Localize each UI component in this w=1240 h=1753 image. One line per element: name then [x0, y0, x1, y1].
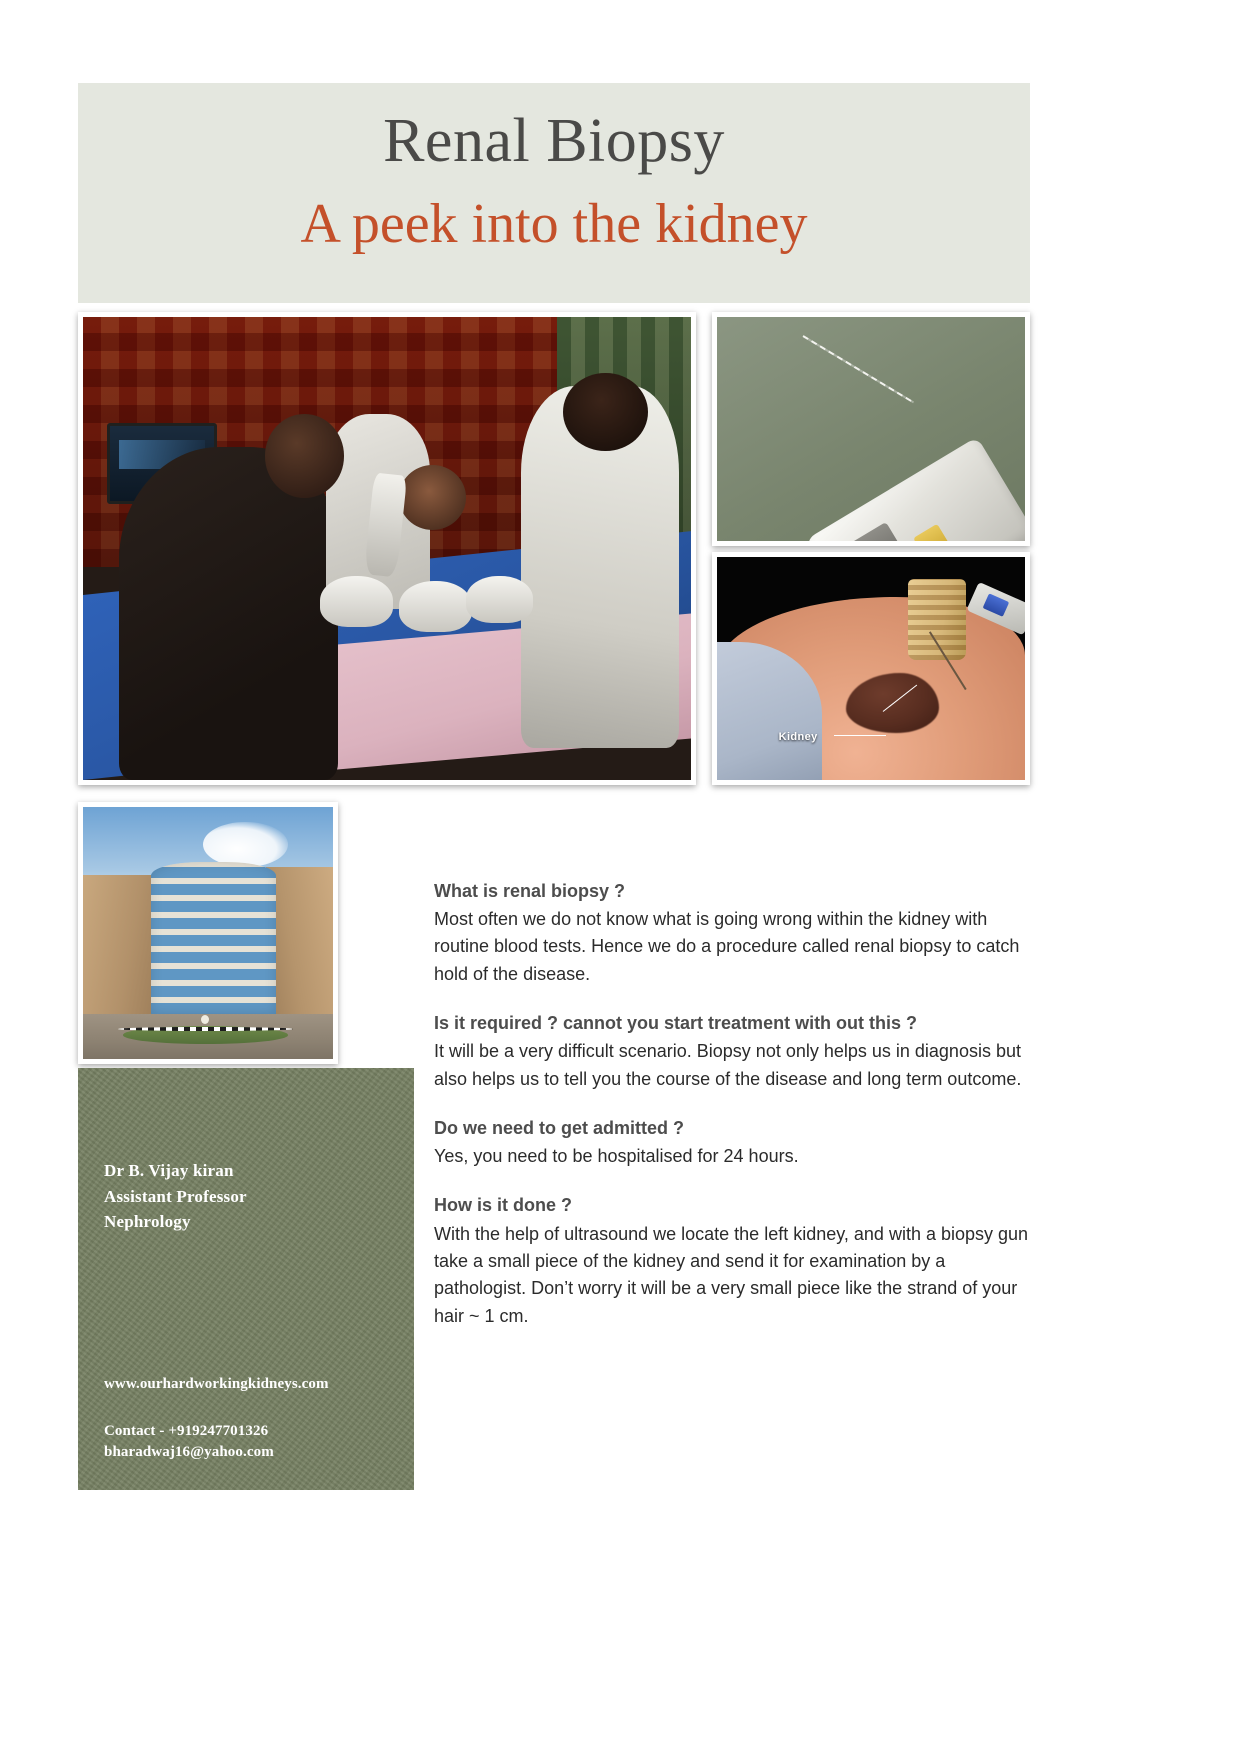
faq-question: Do we need to get admitted ?	[434, 1115, 1040, 1141]
patient-head	[399, 465, 466, 530]
anatomy-illustration: Kidney	[712, 552, 1030, 785]
faq-answer: It will be a very difficult scenario. Bi…	[434, 1038, 1040, 1093]
poster-page: Renal Biopsy A peek into the kidney	[0, 0, 1240, 1753]
website-link[interactable]: www.ourhardworkingkidneys.com	[104, 1376, 329, 1393]
header-band: Renal Biopsy A peek into the kidney	[78, 83, 1030, 303]
hospital-building-photo	[78, 802, 338, 1064]
procedure-photo	[78, 312, 696, 785]
page-title: Renal Biopsy	[78, 109, 1030, 174]
gloved-hand	[399, 581, 472, 632]
faq-answer: Yes, you need to be hospitalised for 24 …	[434, 1143, 1040, 1170]
gloved-hand	[466, 576, 533, 622]
biopsy-gun-photo	[712, 312, 1030, 546]
contact-sidebar-panel: Dr B. Vijay kiran Assistant Professor Ne…	[78, 1068, 414, 1490]
contact-details: www.ourhardworkingkidneys.com Contact - …	[104, 1376, 329, 1465]
page-subtitle: A peek into the kidney	[78, 195, 1030, 254]
faq-item: What is renal biopsy ? Most often we do …	[434, 878, 1040, 988]
doctor-role: Assistant Professor	[104, 1184, 247, 1210]
doctor-name: Dr B. Vijay kiran	[104, 1158, 247, 1184]
gun-yellow-button	[913, 523, 953, 546]
building-central-facade	[151, 862, 276, 1013]
illustration-ultrasound-probe	[908, 579, 967, 659]
faq-answer: Most often we do not know what is going …	[434, 906, 1040, 988]
doctor-head	[265, 414, 344, 497]
faq-question: How is it done ?	[434, 1192, 1040, 1218]
contact-phone: Contact - +919247701326	[104, 1421, 329, 1443]
faq-item: How is it done ? With the help of ultras…	[434, 1192, 1040, 1330]
kidney-label-leader-line	[834, 735, 886, 736]
gloved-hand	[320, 576, 393, 627]
nurse-head	[563, 373, 648, 452]
contact-email[interactable]: bharadwaj16@yahoo.com	[104, 1442, 329, 1464]
kidney-label: Kidney	[779, 731, 818, 743]
faq-item: Is it required ? cannot you start treatm…	[434, 1010, 1040, 1093]
doctor-credentials: Dr B. Vijay kiran Assistant Professor Ne…	[104, 1158, 247, 1235]
building-left-wing	[83, 875, 158, 1019]
faq-section: What is renal biopsy ? Most often we do …	[434, 878, 1040, 1330]
gun-sample-slot	[834, 521, 907, 546]
building-right-wing	[266, 867, 334, 1018]
faq-answer: With the help of ultrasound we locate th…	[434, 1221, 1040, 1330]
faq-item: Do we need to get admitted ? Yes, you ne…	[434, 1115, 1040, 1170]
doctor-department: Nephrology	[104, 1209, 247, 1235]
faq-question: Is it required ? cannot you start treatm…	[434, 1010, 1040, 1036]
faq-question: What is renal biopsy ?	[434, 878, 1040, 904]
lamp-post	[201, 1015, 209, 1024]
